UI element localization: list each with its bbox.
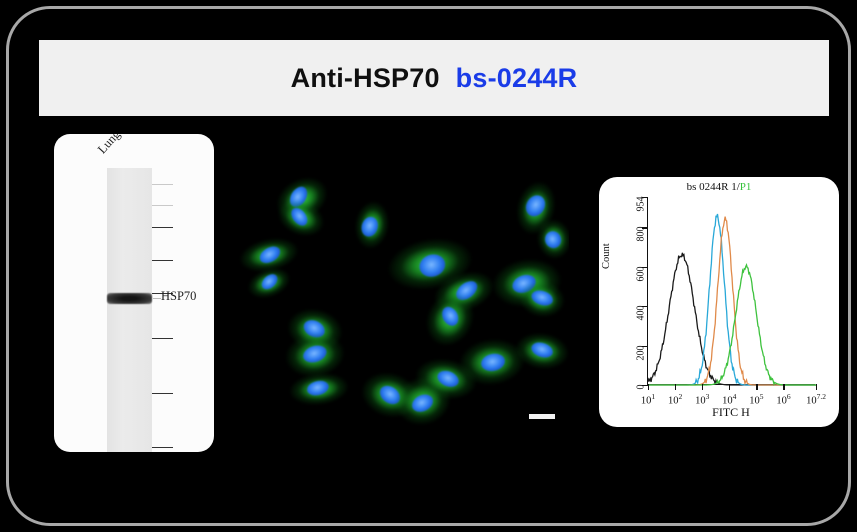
antibody-catalog-number: bs-0244R — [456, 63, 578, 94]
y-axis-label: Count — [601, 243, 612, 269]
x-axis-tick — [783, 384, 784, 390]
lane-label: Lung — [95, 134, 124, 157]
x-axis-tick — [675, 384, 676, 390]
page-title: Anti-HSP70 — [291, 63, 440, 94]
figure-frame: Anti-HSP70 bs-0244R 24518013510075634835… — [6, 6, 851, 526]
x-axis-tick — [702, 384, 703, 390]
y-axis-tick-label: 0 — [636, 385, 647, 390]
x-axis-tick — [756, 384, 757, 390]
x-axis-tick — [816, 384, 817, 390]
blot-band — [107, 293, 152, 304]
x-axis-label: FITC H — [647, 405, 815, 420]
cell — [287, 370, 350, 408]
x-axis-tick — [648, 384, 649, 390]
histogram-curve-sample-cyan — [648, 214, 816, 385]
immunofluorescence-panel — [237, 161, 569, 429]
western-blot-panel: 24518013510075634835 Lung HSP70 — [54, 134, 214, 452]
mw-marker-tick — [151, 205, 173, 206]
histogram-curve-sample-orange — [648, 217, 816, 385]
flow-cytometry-panel: bs 0244R 1/P1 Count 02004006008009541011… — [599, 177, 839, 427]
chart-title-gate: P1 — [740, 181, 752, 193]
histogram-curves — [648, 197, 816, 385]
band-label: HSP70 — [161, 289, 196, 304]
y-axis-tick-label: 800 — [636, 227, 647, 242]
cell — [513, 329, 569, 372]
y-axis-tick-label: 954 — [636, 197, 647, 212]
cell — [352, 199, 392, 251]
y-axis-tick-label: 200 — [636, 345, 647, 360]
chart-title-main: bs 0244R 1/ — [687, 181, 740, 193]
blot-lane — [107, 168, 152, 452]
chart-plot-area: 0200400600800954101102103104105106107.2 — [647, 197, 815, 385]
cell — [534, 216, 569, 261]
mw-marker-tick — [151, 338, 173, 339]
figure-title-banner: Anti-HSP70 bs-0244R — [39, 40, 829, 116]
mw-marker-tick — [151, 447, 173, 448]
mw-marker-tick — [151, 184, 173, 185]
y-axis-tick-label: 600 — [636, 266, 647, 281]
band-label-leader — [153, 298, 161, 299]
mw-marker-tick — [151, 227, 173, 228]
x-axis-tick — [729, 384, 730, 390]
scale-bar — [529, 414, 555, 419]
y-axis-tick-label: 400 — [636, 306, 647, 321]
mw-marker-tick — [151, 260, 173, 261]
mw-marker-tick — [151, 393, 173, 394]
chart-title: bs 0244R 1/P1 — [599, 181, 839, 193]
cell — [516, 277, 568, 320]
